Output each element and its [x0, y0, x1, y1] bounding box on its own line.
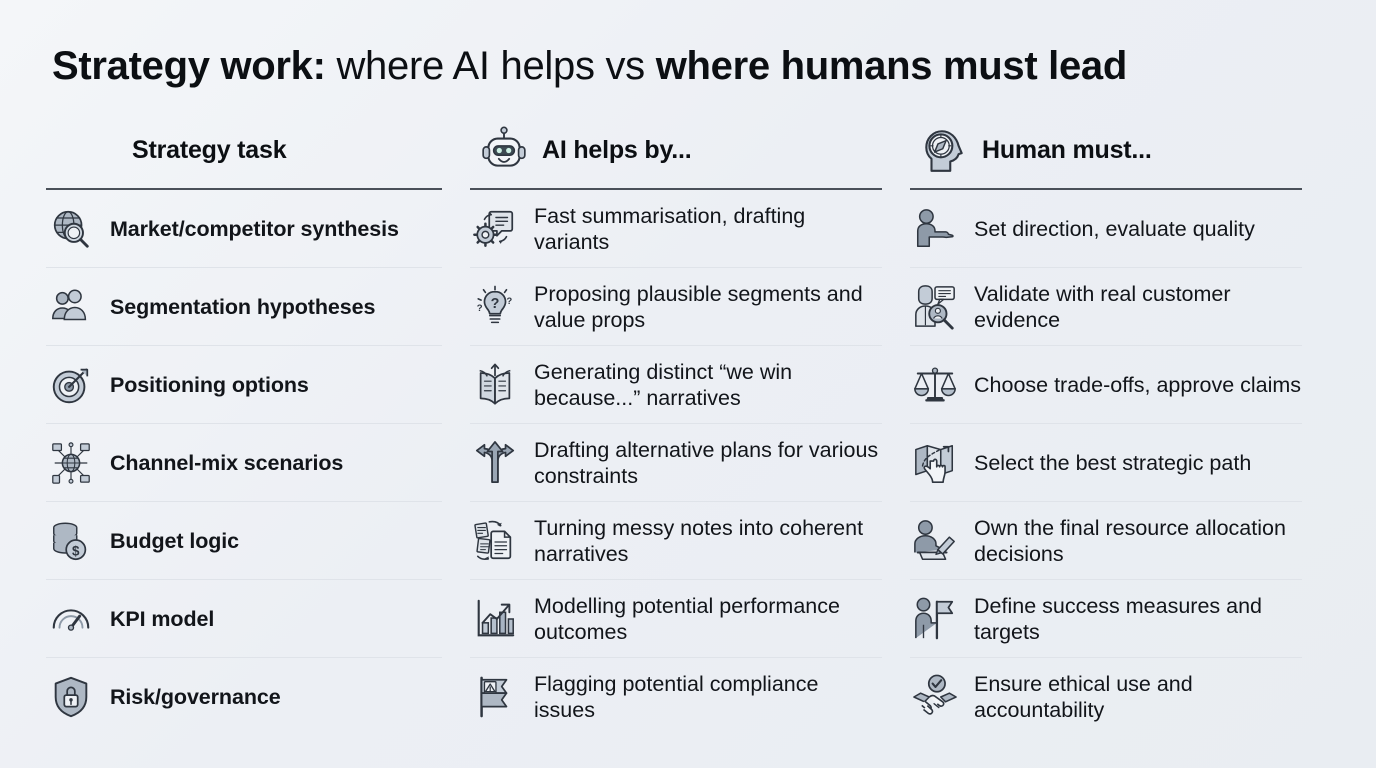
table-row: Generating distinct “we win because...” …: [470, 346, 882, 424]
table-row: Market/competitor synthesis: [46, 190, 442, 268]
task-label: KPI model: [110, 606, 214, 632]
svg-text:?: ?: [506, 296, 512, 307]
title-part-3: where humans must lead: [656, 44, 1127, 88]
coins-stack-icon: $: [46, 516, 96, 566]
table-row: Own the final resource allocation decisi…: [910, 502, 1302, 580]
person-pointing-icon: [910, 204, 960, 254]
document-gear-icon: [470, 204, 520, 254]
table-row: ? ? ? Proposing plausible segments and v…: [470, 268, 882, 346]
ai-helps-label: Proposing plausible segments and value p…: [534, 281, 882, 333]
three-way-arrow-icon: [470, 438, 520, 488]
svg-text:?: ?: [477, 302, 483, 313]
open-book-icon: [470, 360, 520, 410]
svg-text:$: $: [72, 543, 80, 558]
column-header-label: Strategy task: [132, 136, 286, 165]
bar-chart-growth-icon: [470, 594, 520, 644]
page-title: Strategy work: where AI helps vs where h…: [52, 40, 1127, 92]
ai-helps-label: Generating distinct “we win because...” …: [534, 359, 882, 411]
person-signing-icon: [910, 516, 960, 566]
target-arrow-icon: [46, 360, 96, 410]
human-must-label: Validate with real customer evidence: [974, 281, 1302, 333]
ai-helps-label: Turning messy notes into coherent narrat…: [534, 515, 882, 567]
table-row: Risk/governance: [46, 658, 442, 736]
table-row: Channel-mix scenarios: [46, 424, 442, 502]
human-must-label: Define success measures and targets: [974, 593, 1302, 645]
table-row: Flagging potential compliance issues: [470, 658, 882, 736]
map-hand-icon: [910, 438, 960, 488]
table-row: Drafting alternative plans for various c…: [470, 424, 882, 502]
human-must-label: Own the final resource allocation decisi…: [974, 515, 1302, 567]
svg-text:?: ?: [491, 295, 500, 311]
scales-balance-icon: [910, 360, 960, 410]
table-row: Modelling potential performance outcomes: [470, 580, 882, 658]
table-row: Turning messy notes into coherent narrat…: [470, 502, 882, 580]
column-ai-helps: AI helps by...: [470, 118, 910, 736]
human-must-label: Ensure ethical use and accountability: [974, 671, 1302, 723]
column-header-label: AI helps by...: [542, 136, 692, 165]
title-part-1: Strategy work:: [52, 44, 326, 88]
table-row: Fast summarisation, drafting variants: [470, 190, 882, 268]
infographic-page: Strategy work: where AI helps vs where h…: [0, 0, 1376, 768]
title-part-2: where AI helps vs: [326, 44, 656, 88]
lightbulb-question-icon: ? ? ?: [470, 282, 520, 332]
table-row: Define success measures and targets: [910, 580, 1302, 658]
table-row: Ensure ethical use and accountability: [910, 658, 1302, 736]
shield-lock-icon: [46, 672, 96, 722]
task-label: Channel-mix scenarios: [110, 450, 343, 476]
task-label: Budget logic: [110, 528, 239, 554]
table-row: Validate with real customer evidence: [910, 268, 1302, 346]
column-header-human-must: Human must...: [910, 118, 1302, 190]
task-label: Risk/governance: [110, 684, 281, 710]
column-header-ai-helps: AI helps by...: [470, 118, 882, 190]
table-row: $ Budget logic: [46, 502, 442, 580]
person-flag-icon: [910, 594, 960, 644]
column-header-label: Human must...: [982, 136, 1152, 165]
warning-flag-icon: [470, 672, 520, 722]
table-row: Set direction, evaluate quality: [910, 190, 1302, 268]
human-must-label: Choose trade-offs, approve claims: [974, 372, 1301, 398]
comparison-table: Strategy task Market/competitor synthesi…: [46, 118, 1330, 736]
task-label: Segmentation hypotheses: [110, 294, 375, 320]
robot-icon: [478, 124, 530, 176]
handshake-check-icon: [910, 672, 960, 722]
table-row: Select the best strategic path: [910, 424, 1302, 502]
ai-helps-label: Flagging potential compliance issues: [534, 671, 882, 723]
ai-helps-label: Modelling potential performance outcomes: [534, 593, 882, 645]
table-row: KPI model: [46, 580, 442, 658]
task-label: Market/competitor synthesis: [110, 216, 399, 242]
people-group-icon: [46, 282, 96, 332]
gauge-icon: [46, 594, 96, 644]
human-must-label: Select the best strategic path: [974, 450, 1251, 476]
notes-document-icon: [470, 516, 520, 566]
table-row: Choose trade-offs, approve claims: [910, 346, 1302, 424]
person-research-icon: [910, 282, 960, 332]
globe-magnifier-icon: [46, 204, 96, 254]
task-label: Positioning options: [110, 372, 309, 398]
column-header-strategy-task: Strategy task: [46, 118, 442, 190]
table-row: Segmentation hypotheses: [46, 268, 442, 346]
network-globe-icon: [46, 438, 96, 488]
table-row: Positioning options: [46, 346, 442, 424]
ai-helps-label: Drafting alternative plans for various c…: [534, 437, 882, 489]
column-strategy-task: Strategy task Market/competitor synthesi…: [46, 118, 470, 736]
column-human-must: Human must... Set direction, evaluate qu…: [910, 118, 1330, 736]
head-compass-icon: [918, 124, 970, 176]
human-must-label: Set direction, evaluate quality: [974, 216, 1255, 242]
ai-helps-label: Fast summarisation, drafting variants: [534, 203, 882, 255]
